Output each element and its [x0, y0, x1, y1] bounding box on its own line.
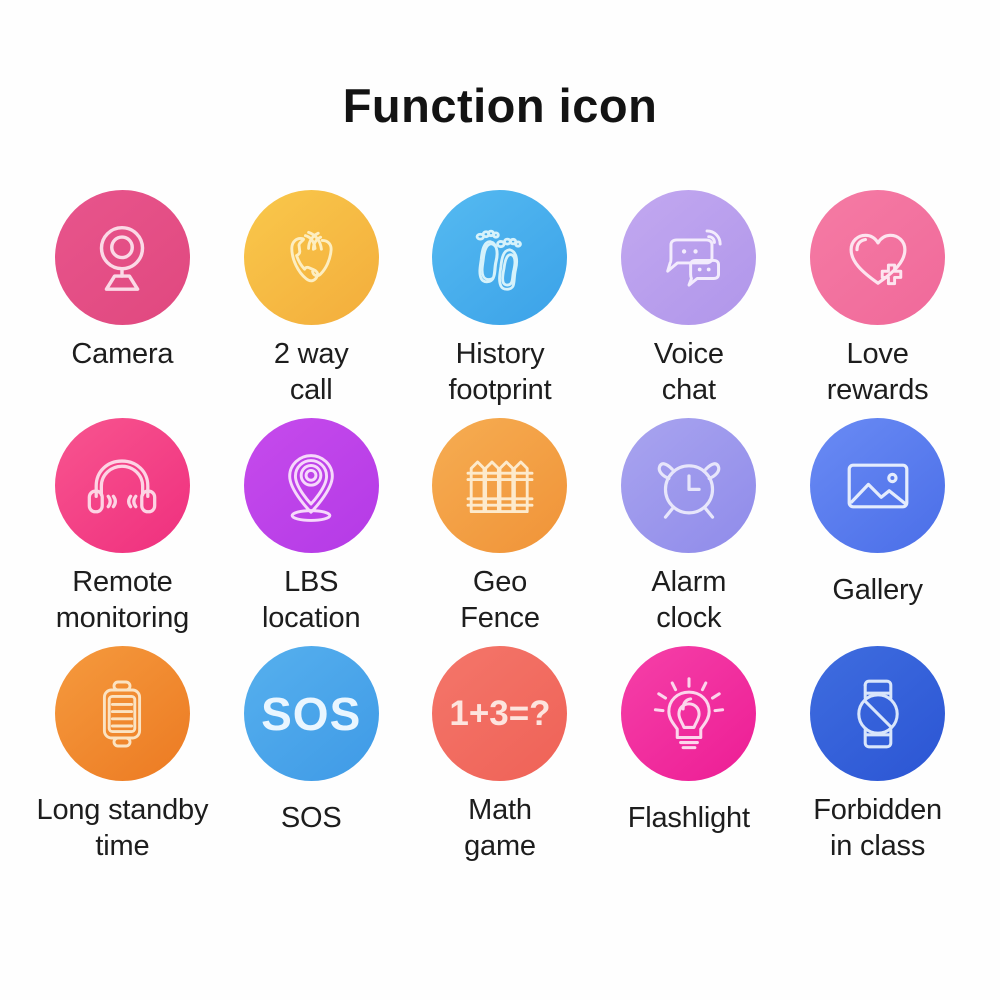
icon-label: 2 way call	[274, 337, 349, 408]
footprints-icon	[459, 217, 541, 299]
icon-bubble[interactable]	[621, 646, 756, 781]
map-pin-icon	[270, 445, 352, 527]
icon-bubble[interactable]	[432, 418, 567, 553]
icon-item-sos[interactable]: SOS SOS	[217, 646, 406, 874]
icon-label: Flashlight	[628, 801, 750, 837]
icon-bubble[interactable]	[55, 646, 190, 781]
icon-item-alarm-clock[interactable]: Alarm clock	[594, 418, 783, 646]
icon-label: Long standby time	[37, 793, 209, 864]
icon-bubble[interactable]: SOS	[244, 646, 379, 781]
page-title: Function icon	[0, 78, 1000, 133]
headphones-icon	[79, 443, 165, 529]
icon-grid: Camera 2 way call	[28, 190, 972, 874]
icon-bubble[interactable]	[55, 418, 190, 553]
icon-item-flashlight[interactable]: Flashlight	[594, 646, 783, 874]
icon-item-love-rewards[interactable]: Love rewards	[783, 190, 972, 418]
image-gallery-icon	[838, 446, 918, 526]
icon-item-geo-fence[interactable]: Geo Fence	[406, 418, 595, 646]
function-icon-poster: Function icon Camera	[0, 0, 1000, 1000]
icon-bubble[interactable]	[810, 646, 945, 781]
icon-item-history-footprint[interactable]: History footprint	[406, 190, 595, 418]
icon-label: Remote monitoring	[56, 565, 189, 636]
icon-bubble[interactable]	[432, 190, 567, 325]
lightbulb-icon	[647, 672, 731, 756]
icon-item-voice-chat[interactable]: Voice chat	[594, 190, 783, 418]
math-equation-icon: 1+3=?	[449, 694, 550, 734]
alarm-clock-icon	[647, 444, 731, 528]
icon-bubble[interactable]	[244, 418, 379, 553]
icon-item-gallery[interactable]: Gallery	[783, 418, 972, 646]
icon-label: Forbidden in class	[813, 793, 942, 864]
sos-icon: SOS	[261, 687, 361, 741]
icon-label: SOS	[281, 801, 342, 837]
icon-item-lbs-location[interactable]: LBS location	[217, 418, 406, 646]
icon-label: Geo Fence	[460, 565, 540, 636]
battery-icon	[82, 674, 162, 754]
icon-bubble[interactable]	[810, 190, 945, 325]
chat-bubbles-icon	[648, 217, 730, 299]
icon-label: History footprint	[448, 337, 551, 408]
icon-label: LBS location	[262, 565, 360, 636]
icon-bubble[interactable]	[621, 418, 756, 553]
icon-bubble[interactable]	[244, 190, 379, 325]
two-way-call-icon	[271, 218, 351, 298]
icon-label: Gallery	[832, 573, 922, 609]
icon-item-forbidden-in-class[interactable]: Forbidden in class	[783, 646, 972, 874]
icon-bubble[interactable]	[55, 190, 190, 325]
icon-label: Alarm clock	[651, 565, 726, 636]
icon-label: Voice chat	[654, 337, 724, 408]
icon-label: Camera	[71, 337, 173, 373]
icon-bubble[interactable]	[621, 190, 756, 325]
icon-item-remote-monitoring[interactable]: Remote monitoring	[28, 418, 217, 646]
heart-plus-icon	[836, 216, 920, 300]
icon-label: Love rewards	[827, 337, 929, 408]
icon-bubble[interactable]: 1+3=?	[432, 646, 567, 781]
webcam-icon	[81, 217, 163, 299]
icon-label: Math game	[464, 793, 536, 864]
fence-icon	[460, 446, 540, 526]
icon-item-2-way-call[interactable]: 2 way call	[217, 190, 406, 418]
icon-item-camera[interactable]: Camera	[28, 190, 217, 418]
watch-forbidden-icon	[838, 674, 918, 754]
icon-item-math-game[interactable]: 1+3=? Math game	[406, 646, 595, 874]
icon-item-long-standby-time[interactable]: Long standby time	[28, 646, 217, 874]
icon-bubble[interactable]	[810, 418, 945, 553]
